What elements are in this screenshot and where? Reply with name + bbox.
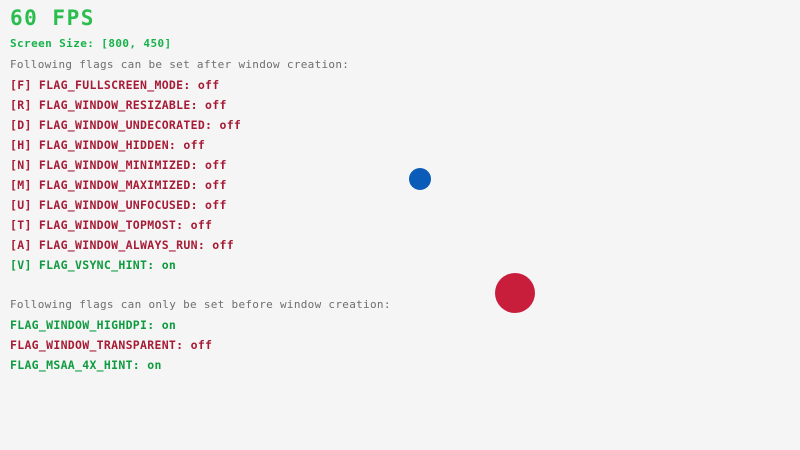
screen-size-readout: Screen Size: [800, 450] <box>10 37 172 50</box>
flag-row-window-topmost[interactable]: [T] FLAG_WINDOW_TOPMOST: off <box>10 218 212 232</box>
raylib-window-canvas[interactable]: 60 FPS Screen Size: [800, 450] Following… <box>0 0 800 450</box>
fps-counter: 60 FPS <box>10 6 95 30</box>
flag-row-window-undecorated[interactable]: [D] FLAG_WINDOW_UNDECORATED: off <box>10 118 241 132</box>
runtime-flags-heading: Following flags can be set after window … <box>10 58 349 71</box>
flag-row-window-minimized[interactable]: [N] FLAG_WINDOW_MINIMIZED: off <box>10 158 227 172</box>
flag-row-window-maximized[interactable]: [M] FLAG_WINDOW_MAXIMIZED: off <box>10 178 227 192</box>
flag-row-window-hidden[interactable]: [H] FLAG_WINDOW_HIDDEN: off <box>10 138 205 152</box>
flag-row-window-resizable[interactable]: [R] FLAG_WINDOW_RESIZABLE: off <box>10 98 227 112</box>
flag-row-msaa-4x-hint: FLAG_MSAA_4X_HINT: on <box>10 358 162 372</box>
flag-row-fullscreen-mode[interactable]: [F] FLAG_FULLSCREEN_MODE: off <box>10 78 219 92</box>
blue-ball <box>409 168 431 190</box>
flag-row-window-highdpi: FLAG_WINDOW_HIGHDPI: on <box>10 318 176 332</box>
creation-flags-heading: Following flags can only be set before w… <box>10 298 391 311</box>
red-ball <box>495 273 535 313</box>
flag-row-window-always-run[interactable]: [A] FLAG_WINDOW_ALWAYS_RUN: off <box>10 238 234 252</box>
flag-row-window-unfocused[interactable]: [U] FLAG_WINDOW_UNFOCUSED: off <box>10 198 227 212</box>
flag-row-vsync-hint[interactable]: [V] FLAG_VSYNC_HINT: on <box>10 258 176 272</box>
flag-row-window-transparent: FLAG_WINDOW_TRANSPARENT: off <box>10 338 212 352</box>
